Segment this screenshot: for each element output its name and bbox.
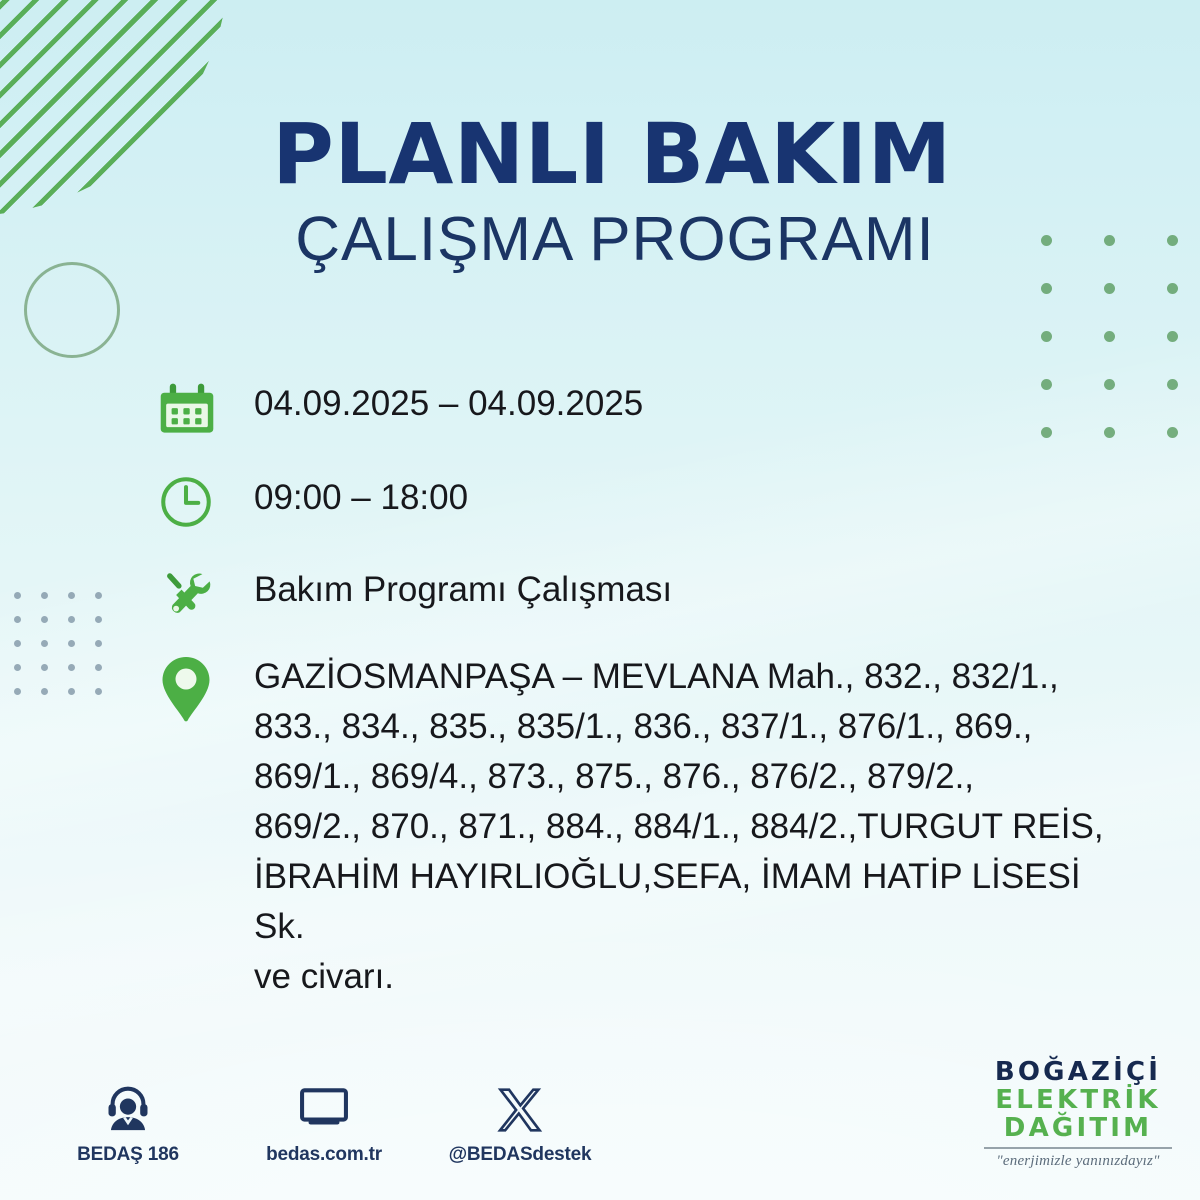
page-subtitle: ÇALIŞMA PROGRAMI: [0, 204, 1200, 275]
page-title: PLANLI BAKIM: [0, 112, 1200, 196]
dot: [68, 592, 75, 599]
brand-line-dagitim: DAĞITIM: [978, 1114, 1178, 1142]
tools-icon: [158, 564, 254, 624]
dot: [68, 616, 75, 623]
address-text: GAZİOSMANPAŞA – MEVLANA Mah., 832., 832/…: [254, 652, 1118, 1002]
info-row-work-type: Bakım Programı Çalışması: [158, 564, 1118, 624]
dot: [14, 688, 21, 695]
brand-divider: [984, 1147, 1172, 1149]
footer-label: @BEDASdestek: [449, 1144, 592, 1166]
dot: [95, 616, 102, 623]
circle-outline-decoration: [24, 262, 120, 358]
info-row-address: GAZİOSMANPAŞA – MEVLANA Mah., 832., 832/…: [158, 652, 1118, 1002]
dot: [41, 664, 48, 671]
brand-line-bogazici: BOĞAZİÇİ: [978, 1058, 1178, 1086]
footer-label: bedas.com.tr: [266, 1144, 382, 1166]
dot: [14, 664, 21, 671]
footer-contact-bar: BEDAŞ 186 bedas.com.tr @BEDASdestek: [58, 1079, 590, 1166]
dot: [14, 592, 21, 599]
x-twitter-icon: [495, 1079, 545, 1135]
info-row-time: 09:00 – 18:00: [158, 472, 1118, 530]
dot: [1041, 331, 1052, 342]
headset-support-icon: [102, 1079, 154, 1135]
date-range-text: 04.09.2025 – 04.09.2025: [254, 378, 643, 421]
footer-item-website[interactable]: bedas.com.tr: [254, 1079, 394, 1166]
poster-header: PLANLI BAKIM ÇALIŞMA PROGRAMI: [0, 112, 1200, 275]
dot: [95, 664, 102, 671]
brand-logo: BOĞAZİÇİ ELEKTRİK DAĞITIM "enerjimizle y…: [978, 1058, 1178, 1170]
info-row-date: 04.09.2025 – 04.09.2025: [158, 378, 1118, 438]
time-range-text: 09:00 – 18:00: [254, 472, 468, 515]
work-type-text: Bakım Programı Çalışması: [254, 564, 672, 607]
dot: [1104, 331, 1115, 342]
dot: [95, 688, 102, 695]
dot: [95, 640, 102, 647]
dot: [14, 616, 21, 623]
dot: [68, 640, 75, 647]
brand-tagline: "enerjimizle yanınızdayız": [978, 1153, 1178, 1170]
footer-item-social[interactable]: @BEDASdestek: [450, 1079, 590, 1166]
dot: [41, 640, 48, 647]
dot: [1167, 331, 1178, 342]
dot: [41, 688, 48, 695]
dot: [41, 616, 48, 623]
calendar-icon: [158, 378, 254, 438]
dot: [68, 688, 75, 695]
dot: [95, 592, 102, 599]
dot: [68, 664, 75, 671]
dot: [1167, 379, 1178, 390]
dot: [1041, 283, 1052, 294]
info-list: 04.09.2025 – 04.09.2025 09:00 – 18:00: [158, 378, 1118, 1002]
poster-canvas: PLANLI BAKIM ÇALIŞMA PROGRAMI: [0, 0, 1200, 1200]
dot: [1104, 283, 1115, 294]
dot: [41, 592, 48, 599]
desktop-monitor-icon: [298, 1079, 350, 1135]
clock-icon: [158, 472, 254, 530]
location-pin-icon: [158, 652, 254, 724]
dot: [1167, 427, 1178, 438]
dot: [14, 640, 21, 647]
dot: [1167, 283, 1178, 294]
brand-line-elektrik: ELEKTRİK: [978, 1086, 1178, 1114]
footer-item-call-center[interactable]: BEDAŞ 186: [58, 1079, 198, 1166]
footer-label: BEDAŞ 186: [77, 1144, 179, 1166]
dot-grid-decoration-left: [14, 592, 102, 712]
